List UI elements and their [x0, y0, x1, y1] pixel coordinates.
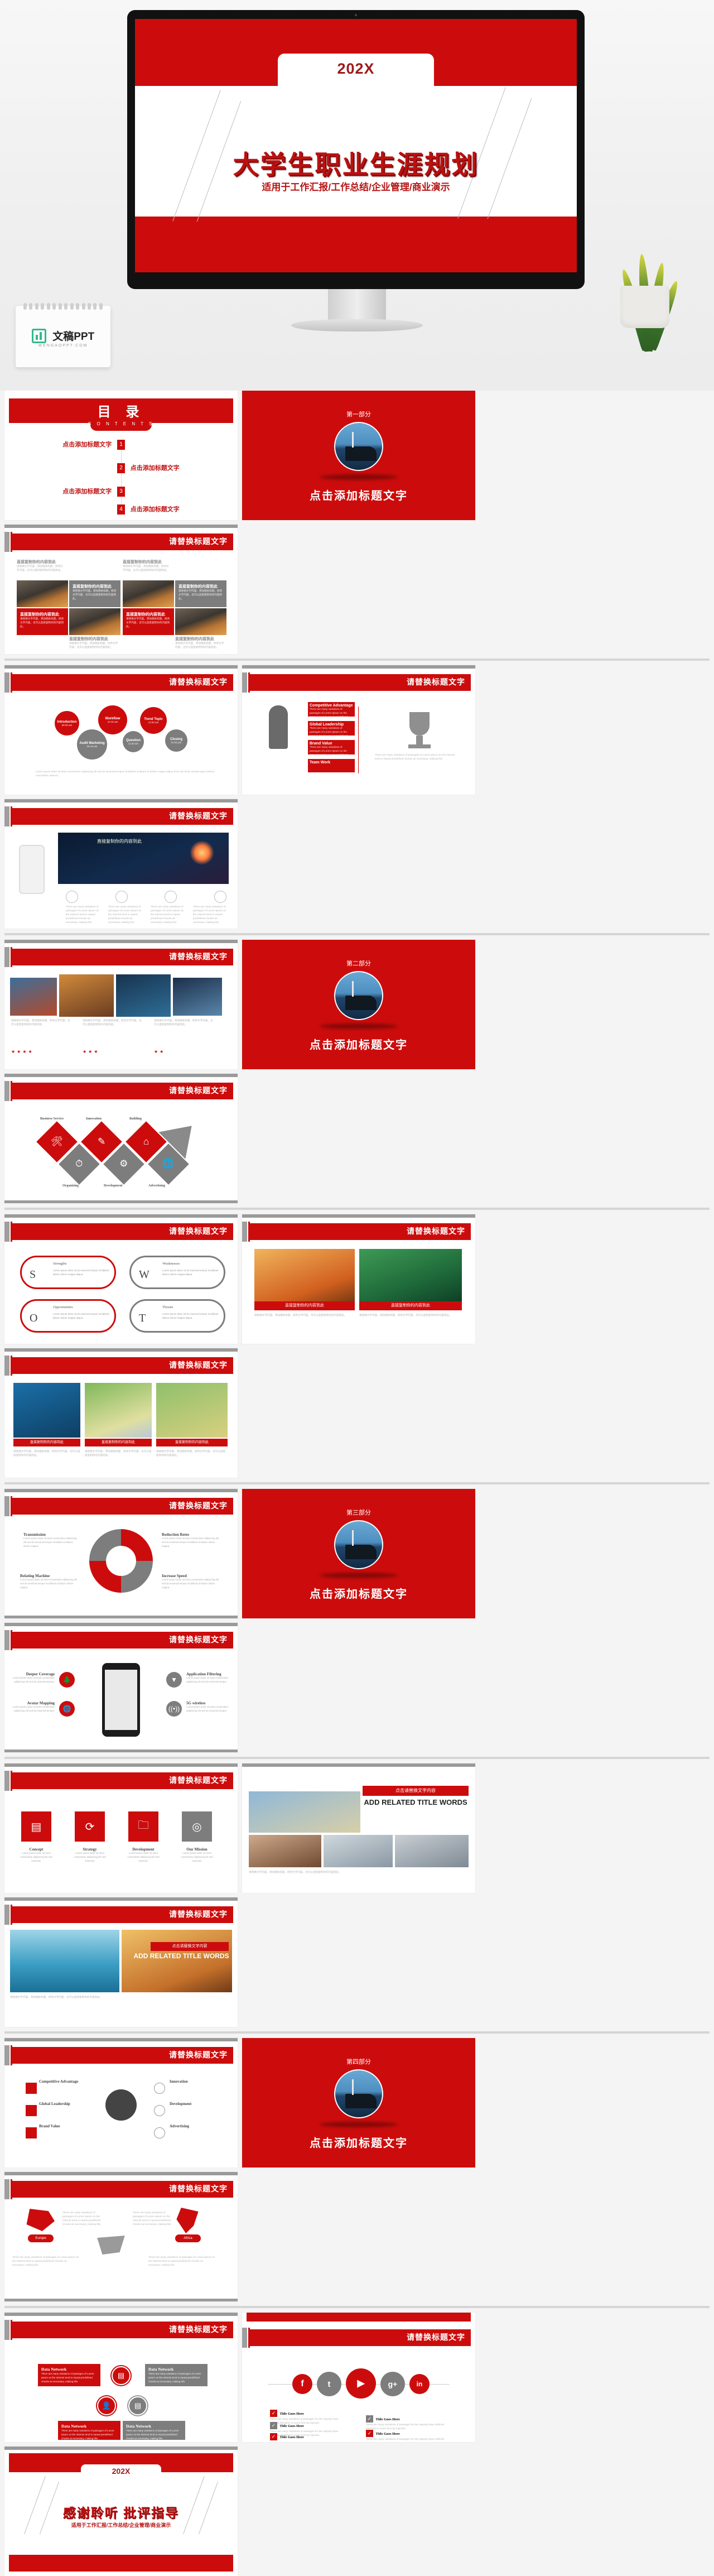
slide-flowchart[interactable]: 请替换标题文字 Competitive Advantage There are …: [242, 665, 475, 795]
gallery-photo[interactable]: [10, 978, 57, 1016]
caption-body: 请替换文字内容，添加相关标题，修改文字内容，也可以直接复制你的内容到此。: [123, 565, 171, 573]
header-title: 请替换标题文字: [169, 2049, 228, 2060]
header-title: 请替换标题文字: [169, 1225, 228, 1237]
europe-label: Europe: [28, 2234, 54, 2242]
slide-divider-2[interactable]: 第二部分 点击添加标题文字: [242, 940, 475, 1069]
trophy-icon: [409, 712, 430, 736]
slide-header: 请替换标题文字: [250, 2329, 471, 2346]
top-rule: [4, 2313, 238, 2316]
photo-left[interactable]: [254, 1249, 355, 1301]
top-rule: [4, 1489, 238, 1492]
slide-header: 请替换标题文字: [12, 1223, 233, 1240]
header-title: 请替换标题文字: [407, 1225, 465, 1237]
bubble-node[interactable]: Closing01:00 pm: [165, 729, 187, 752]
mobile-item-right-2: 5G wireless Lorem ipsum dolor sit amet c…: [186, 1701, 232, 1713]
slide-city-gallery[interactable]: 请替换标题文字 请替换文字内容，添加相关标题，修改文字内容，也可以直接复制你的内…: [4, 940, 238, 1069]
top-rule: [4, 1348, 238, 1352]
top-rule: [242, 1214, 475, 1218]
bubble-node[interactable]: Trend Topic12:00 am: [140, 707, 167, 734]
header-title: 请替换标题文字: [169, 676, 228, 688]
contents-label[interactable]: 点击添加标题文字: [62, 440, 112, 449]
slide-mobile-features[interactable]: 请替换标题文字 Deeper Coverage Lorem ipsum dolo…: [4, 1623, 238, 1752]
divider-part-label: 第二部分: [242, 959, 475, 968]
slide-header: 请替换标题文字: [12, 2181, 233, 2198]
swot-body: Lorem ipsum dolor sit do eiusmod tempor …: [162, 1312, 219, 1320]
africa-label: Africa: [175, 2234, 201, 2242]
related-body: 请替换文字内容，添加相关标题，修改文字内容，也可以直接复制你的内容到此。: [249, 1871, 469, 1875]
slide-header: 请替换标题文字: [12, 534, 233, 550]
divider-shadow: [320, 1023, 398, 1029]
swot-title: Weaknesses: [162, 1262, 180, 1266]
photo-right[interactable]: [359, 1249, 462, 1301]
linkedin-icon[interactable]: in: [409, 2374, 430, 2394]
africa-map-icon: [172, 2208, 203, 2233]
cover-year: 202X: [135, 60, 577, 78]
photo-caption: 直接复制你的内容到此: [97, 838, 142, 844]
bubble-node[interactable]: Question11:30 am: [123, 731, 144, 752]
photo-caption: 直接复制你的内容到此: [85, 1439, 152, 1446]
row-separator: [4, 659, 710, 661]
phone-mockup: [102, 1663, 140, 1737]
map-note: There are many variations of passages of…: [133, 2211, 174, 2227]
slide-header: 请替换标题文字: [12, 1083, 233, 1099]
ending-title: 感谢聆听 批评指导: [4, 2502, 238, 2521]
slide-data-network[interactable]: 请替换标题文字 Data Network There are many vari…: [4, 2313, 238, 2442]
check-icon: ✓: [270, 2433, 277, 2440]
related-en-title: ADD RELATED TITLE WORDS: [363, 1798, 469, 1806]
ship-mast: [352, 1530, 354, 1546]
slide-header: 请替换标题文字: [12, 1632, 233, 1649]
mosaic-caption: 直接复制你的内容到此 请替换文字内容，添加相关标题，修改文字内容，也可以直接复制…: [69, 636, 118, 650]
flow-node[interactable]: Global Leadership There are many variati…: [308, 721, 355, 736]
persona-label: Global Leadership: [39, 2102, 70, 2106]
divider-shadow: [320, 2122, 398, 2127]
server-icon[interactable]: ▤: [112, 2366, 131, 2385]
america-map-icon: [94, 2233, 128, 2256]
header-title: 请替换标题文字: [169, 1775, 228, 1786]
bottom-rule: [4, 1200, 238, 1203]
mosaic-text-tile: 直接复制你的内容到此 请替换文字内容，添加相关标题，修改文字内容，也可以直接复制…: [17, 608, 68, 635]
slide-arrow-process[interactable]: 请替换标题文字 Business Service Innovation Buil…: [4, 1074, 238, 1203]
swot-body: Lorem ipsum dolor sit do eiusmod tempor …: [53, 1268, 110, 1276]
header-title: 请替换标题文字: [169, 1634, 228, 1645]
row-separator: [4, 1208, 710, 1210]
header-title: 请替换标题文字: [169, 810, 228, 821]
process-label: Building: [129, 1117, 142, 1121]
gear-graphic-icon: [89, 1529, 153, 1593]
flow-connector: [358, 707, 359, 773]
ending-year: 202X: [4, 2467, 238, 2476]
swot-card-w[interactable]: W Weaknesses Lorem ipsum dolor sit do ei…: [129, 1256, 225, 1289]
slide-header: 请替换标题文字: [12, 949, 233, 965]
divider-part-label: 第三部分: [242, 1508, 475, 1517]
photo-tile[interactable]: [13, 1383, 80, 1438]
slide-header: 请替换标题文字: [12, 2322, 233, 2338]
header-title: 请替换标题文字: [169, 2183, 228, 2194]
camera-dot: [355, 14, 357, 16]
avatar: [105, 2089, 137, 2121]
icon-card-caption: Concept Lorem ipsum dolor sit amet conse…: [17, 1847, 56, 1863]
swot-letter: O: [30, 1312, 37, 1325]
process-label: Organizing: [62, 1184, 79, 1188]
slide-divider-4[interactable]: 第四部分 点击添加标题文字: [242, 2038, 475, 2168]
mosaic-text-tile: 直接复制你的内容到此 请替换文字内容，添加相关标题，修改文字内容，也可以直接复制…: [123, 608, 174, 635]
contents-number: 2: [117, 463, 125, 473]
mosaic-text-tile: 直接复制你的内容到此 请替换文字内容，添加相关标题，修改文字内容，也可以直接复制…: [175, 580, 226, 607]
folder-icon[interactable]: 🗀: [128, 1811, 158, 1842]
contents-label[interactable]: 点击添加标题文字: [131, 504, 180, 513]
contents-number: 1: [117, 440, 125, 450]
mosaic-caption: 直接复制你的内容到此 请替换文字内容，添加相关标题，修改文字内容，也可以直接复制…: [175, 636, 224, 650]
tree-icon[interactable]: 🌲: [59, 1672, 75, 1688]
slide-night-photo[interactable]: 请替换标题文字 直接复制你的内容到此 There are many variat…: [4, 799, 238, 929]
divider-title: 点击添加标题文字: [242, 2134, 475, 2150]
phone-mockup: [19, 845, 45, 894]
slide-thumbnail-grid: 目 录 C O N T E N T S 1 点击添加标题文字 2 点击添加标题文…: [0, 391, 714, 2576]
googleplus-icon[interactable]: g+: [380, 2372, 405, 2396]
photo-body: 请替换文字内容，添加相关标题，修改文字内容，也可以直接复制你的内容到此。: [156, 1450, 228, 1458]
contents-label[interactable]: 点击添加标题文字: [62, 487, 112, 496]
slide-divider-3[interactable]: 第三部分 点击添加标题文字: [242, 1489, 475, 1618]
data-network-box[interactable]: Data Network There are many variations o…: [38, 2364, 100, 2386]
slide-header: 请替换标题文字: [12, 2047, 233, 2064]
hands-photo[interactable]: [249, 1791, 360, 1833]
top-rule: [4, 2447, 238, 2450]
mosaic-caption: 直接复制你的内容到此 请替换文字内容，添加相关标题，修改文字内容，也可以直接复制…: [123, 559, 171, 573]
users-icon[interactable]: [214, 891, 226, 903]
slide-header: 请替换标题文字: [250, 1223, 471, 1240]
flow-caption: There are many variations of passages of…: [375, 753, 459, 761]
slide-header: 请替换标题文字: [12, 1498, 233, 1515]
divider-image: [334, 1520, 383, 1569]
slide-beach-photos[interactable]: 请替换标题文字 点击请替换文字内容 ADD RELATED TITLE WORD…: [4, 1897, 238, 2027]
data-network-box[interactable]: Data Network There are many variations o…: [123, 2421, 185, 2440]
top-rule: [4, 525, 238, 528]
mosaic-caption: 直接复制你的内容到此 请替换文字内容，添加相关标题，修改文字内容，也可以直接复制…: [17, 559, 65, 573]
ship-mast: [352, 2079, 354, 2095]
divider-title: 点击添加标题文字: [242, 487, 475, 503]
swot-title: Opportunities: [53, 1305, 73, 1309]
contents-number: 4: [117, 504, 125, 515]
row-separator: [4, 2031, 710, 2034]
slide-two-photos[interactable]: 请替换标题文字 直接复制你的内容到此 直接复制你的内容到此 请替换文字内容，添加…: [242, 1214, 475, 1344]
mosaic-image: [123, 580, 174, 607]
divider-shadow: [320, 474, 398, 480]
target-icon[interactable]: ◎: [182, 1811, 212, 1842]
persona-label: Innovation: [170, 2079, 188, 2084]
logo-text: 文稿PPT: [52, 328, 94, 343]
chart-icon[interactable]: [115, 891, 128, 903]
photo-tile[interactable]: [156, 1383, 228, 1438]
mosaic-image: [69, 608, 120, 635]
slide-social[interactable]: 请替换标题文字 f t ▶ g+ in ✓ Title Goes Here Th…: [242, 2313, 475, 2442]
check-icon: ✓: [366, 2430, 373, 2437]
map-note: There are many variations of passages of…: [148, 2256, 215, 2267]
swot-title: Threats: [162, 1305, 173, 1309]
icon-caption-row: There are many variations of passages of…: [66, 905, 226, 924]
slide-contents[interactable]: 目 录 C O N T E N T S 1 点击添加标题文字 2 点击添加标题文…: [4, 391, 238, 520]
mosaic-image: [175, 608, 226, 635]
swot-card-s[interactable]: S Strengths Lorem ipsum dolor sit do eiu…: [20, 1256, 116, 1289]
swot-body: Lorem ipsum dolor sit do eiusmod tempor …: [53, 1312, 110, 1320]
user-icon[interactable]: 👤: [97, 2396, 116, 2415]
slide-related-words[interactable]: 点击请替换文字内容 ADD RELATED TITLE WORDS 请替换文字内…: [242, 1763, 475, 1893]
swot-card-o[interactable]: O Opportunities Lorem ipsum dolor sit do…: [20, 1299, 116, 1333]
beach-body: 请替换文字内容，添加相关标题，修改文字内容，也可以直接复制你的内容到此。: [10, 1996, 232, 2000]
monitor-base: [291, 319, 423, 331]
social-list-item: ✓ Title Goes Here There are many variati…: [366, 2428, 455, 2442]
minus-icon[interactable]: [26, 2105, 37, 2116]
notebook-rings: [23, 303, 103, 310]
row-separator: [4, 1757, 710, 1759]
brand-logo: 文稿PPT WENGAOPPT.COM: [16, 328, 110, 348]
wifi-icon[interactable]: ((•)): [166, 1701, 182, 1717]
slide-header: 请替换标题文字: [12, 1906, 233, 1923]
rating-stars: ★★★★: [11, 1049, 34, 1054]
top-rule: [242, 1763, 475, 1767]
rating-stars: ★★★: [83, 1049, 100, 1054]
header-title: 请替换标题文字: [169, 1500, 228, 1511]
gallery-photo[interactable]: [116, 974, 171, 1017]
divider-image: [334, 971, 383, 1020]
photo-left-caption: 直接复制你的内容到此: [254, 1301, 355, 1310]
beach-en-title: ADD RELATED TITLE WORDS: [133, 1952, 230, 1960]
header-title: 请替换标题文字: [407, 2332, 465, 2343]
cover-subtitle: 适用于工作汇报/工作总结/企业管理/商业演示: [135, 179, 577, 193]
check-icon: ✓: [366, 2415, 373, 2423]
swot-card-t[interactable]: T Threats Lorem ipsum dolor sit do eiusm…: [129, 1299, 225, 1333]
slide-header: 请替换标题文字: [250, 674, 471, 691]
bubble-caption: Lorem ipsum dolor sit amet consectetur a…: [36, 770, 215, 778]
youtube-icon[interactable]: ▶: [346, 2368, 376, 2399]
photo-right-caption: 直接复制你的内容到此: [359, 1301, 462, 1310]
swot-title: Strengths: [53, 1262, 67, 1266]
divider-image: [334, 422, 383, 471]
ending-bottom-band: [9, 2555, 233, 2572]
ship-icon: [345, 446, 377, 461]
slide-swot[interactable]: 请替换标题文字 S Strengths Lorem ipsum dolor si…: [4, 1214, 238, 1344]
process-label: Business Service: [40, 1117, 64, 1121]
contents-subtitle: C O N T E N T S: [4, 421, 238, 426]
social-list-item: ✓ Title Goes Here: [270, 2431, 342, 2441]
gallery-photo[interactable]: [173, 978, 222, 1016]
divider-title: 点击添加标题文字: [242, 1585, 475, 1601]
top-rule: [4, 1763, 238, 1767]
icon-row: [66, 891, 226, 903]
top-rule: [4, 665, 238, 669]
mobile-item-right-1: Application Filtering Lorem ipsum dolor …: [186, 1672, 232, 1684]
slide-three-photos[interactable]: 请替换标题文字 直接复制你的内容到此 直接复制你的内容到此 直接复制你的内容到此…: [4, 1348, 238, 1478]
divider-title: 点击添加标题文字: [242, 1036, 475, 1052]
cover-title: 大学生职业生涯规划: [135, 145, 577, 181]
facebook-icon[interactable]: f: [292, 2374, 312, 2394]
caption-title: 直接复制你的内容到此: [17, 559, 65, 565]
filter-icon[interactable]: ▼: [166, 1672, 182, 1688]
photo-body: 请替换文字内容，添加相关标题，修改文字内容，也可以直接复制你的内容到此。: [13, 1450, 80, 1458]
swot-body: Lorem ipsum dolor sit do eiusmod tempor …: [162, 1268, 219, 1276]
social-top-band: [247, 2313, 471, 2322]
header-title: 请替换标题文字: [169, 1909, 228, 1920]
data-network-box[interactable]: Data Network There are many variations o…: [145, 2364, 208, 2386]
data-network-box[interactable]: Data Network There are many variations o…: [58, 2421, 120, 2440]
rating-stars: ★★: [154, 1049, 165, 1054]
gallery-caption: 请替换文字内容，添加相关标题，修改文字内容，也可以直接复制你的内容到此。: [11, 1019, 73, 1027]
slide-bubble-timeline[interactable]: 请替换标题文字 Introduction08:30 am Audit Marke…: [4, 665, 238, 795]
swot-letter: S: [30, 1268, 36, 1281]
photo-tile[interactable]: [395, 1835, 469, 1867]
mobile-item-left-2: Avatar Mapping Lorem ipsum dolor sit ame…: [12, 1701, 55, 1713]
sunset-photo[interactable]: [122, 1930, 232, 1992]
header-title: 请替换标题文字: [169, 1085, 228, 1096]
gear-item-tr: Reduction Rotes Lorem ipsum dolor sit am…: [162, 1532, 223, 1549]
slide-ending[interactable]: 202X 感谢聆听 批评指导 适用于工作汇报/工作总结/企业管理/商业演示: [4, 2447, 238, 2576]
swot-letter: T: [139, 1312, 146, 1325]
top-rule: [4, 2038, 238, 2041]
bubble-node[interactable]: Audit Marketing09:15 am: [77, 729, 107, 760]
calendar-icon[interactable]: ▤: [21, 1811, 51, 1842]
divider-image: [334, 2069, 383, 2118]
check-icon: ✓: [270, 2422, 277, 2429]
flow-node[interactable]: Competitive Advantage There are many var…: [308, 702, 355, 717]
database-icon[interactable]: ▤: [128, 2396, 147, 2415]
photo-tile[interactable]: [85, 1383, 152, 1438]
flow-node[interactable]: Brand Value There are many variations of…: [308, 740, 355, 754]
share-icon[interactable]: [154, 2105, 165, 2116]
persona-label: Brand Value: [39, 2124, 60, 2128]
top-rule: [4, 2172, 238, 2175]
caption-title: 直接复制你的内容到此: [123, 559, 171, 565]
row-separator: [4, 933, 710, 935]
firework-icon: [190, 840, 214, 865]
cover-bottom-band: [135, 217, 577, 272]
monitor-mockup: 202X 大学生职业生涯规划 适用于工作汇报/工作总结/企业管理/商业演示: [127, 10, 585, 289]
header-title: 请替换标题文字: [169, 2324, 228, 2335]
divider-part-label: 第四部分: [242, 2057, 475, 2066]
persona-label: Advertising: [170, 2124, 189, 2128]
refresh-icon[interactable]: ⟳: [75, 1811, 105, 1842]
monitor-stand: [328, 289, 386, 323]
slide-divider-1[interactable]: 第一部分 点击添加标题文字: [242, 391, 475, 520]
header-title: 请替换标题文字: [169, 536, 228, 547]
stat-icon[interactable]: [66, 891, 78, 903]
bottom-rule: [4, 1750, 238, 1752]
pen-icon[interactable]: [154, 2083, 165, 2094]
header-title: 请替换标题文字: [169, 951, 228, 962]
bubble-node[interactable]: Introduction08:30 am: [55, 711, 79, 736]
row-separator: [4, 2306, 710, 2308]
top-rule: [4, 799, 238, 802]
persona-label: Competitive Advantage: [39, 2079, 78, 2084]
gallery-caption: 请替换文字内容，添加相关标题，修改文字内容，也可以直接复制你的内容到此。: [83, 1019, 144, 1027]
mosaic-image: [17, 580, 68, 607]
top-rule: [4, 1214, 238, 1218]
slide-icon-cards[interactable]: 请替换标题文字 ▤ ⟳ 🗀 ◎ Concept Lorem ipsum dolo…: [4, 1763, 238, 1893]
twitter-icon[interactable]: t: [317, 2372, 341, 2396]
header-title: 请替换标题文字: [407, 676, 465, 688]
check-icon: ✓: [270, 2410, 277, 2417]
europe-map-icon: [23, 2209, 55, 2231]
slide-persona[interactable]: 请替换标题文字 Competitive Advantage Global Lea…: [4, 2038, 238, 2168]
logo-url: WENGAOPPT.COM: [16, 344, 110, 348]
person-icon: [269, 705, 288, 749]
photo-left-body: 请替换文字内容，添加相关标题，修改文字内容，也可以直接复制你的内容到此。: [254, 1314, 355, 1318]
notebook-logo: 文稿PPT WENGAOPPT.COM: [16, 306, 110, 367]
close-icon[interactable]: [26, 2083, 37, 2094]
gallery-caption: 请替换文字内容，添加相关标题，修改文字内容，也可以直接复制你的内容到此。: [154, 1019, 215, 1027]
ship-icon: [345, 1545, 377, 1559]
globe-icon[interactable]: 🌐: [59, 1701, 75, 1717]
photo-body: 请替换文字内容，添加相关标题，修改文字内容，也可以直接复制你的内容到此。: [85, 1450, 152, 1458]
bottom-rule: [4, 1616, 238, 1618]
slide-image-mosaic[interactable]: 请替换标题文字 直接复制你的内容到此 请替换文字内容，添加相关标题，修改文字内容…: [4, 525, 238, 654]
photo-tile[interactable]: [249, 1835, 321, 1867]
ship-mast: [352, 432, 354, 448]
contents-label[interactable]: 点击添加标题文字: [131, 463, 180, 472]
ship-icon: [345, 2094, 377, 2108]
cover-slide: 202X 大学生职业生涯规划 适用于工作汇报/工作总结/企业管理/商业演示: [135, 19, 577, 272]
close-icon[interactable]: [26, 2127, 37, 2138]
beach-cn-title: 点击请替换文字内容: [151, 1942, 229, 1951]
divider-shadow: [320, 1573, 398, 1578]
icon-card-caption: Our Mission Lorem ipsum dolor sit amet c…: [177, 1847, 216, 1863]
gallery-photo[interactable]: [59, 974, 114, 1017]
top-rule: [242, 665, 475, 669]
flow-node[interactable]: Team Work: [308, 759, 355, 772]
icon-card-caption: Strategy Lorem ipsum dolor sit amet cons…: [70, 1847, 109, 1863]
hero-preview: 202X 大学生职业生涯规划 适用于工作汇报/工作总结/企业管理/商业演示 文稿…: [0, 0, 714, 391]
persona-label: Development: [170, 2102, 191, 2106]
header-title: 请替换标题文字: [169, 1359, 228, 1371]
photo-right-body: 请替换文字内容，添加相关标题，修改文字内容，也可以直接复制你的内容到此。: [359, 1314, 462, 1318]
top-rule: [4, 1074, 238, 1077]
bottom-rule: [4, 2299, 238, 2301]
top-rule: [4, 1623, 238, 1626]
gear-icon[interactable]: [165, 891, 177, 903]
gear-item-tl: Transmission Lorem ipsum dolor sit amet …: [23, 1532, 77, 1549]
map-note: There are many variations of passages of…: [62, 2211, 104, 2227]
photo-tile[interactable]: [324, 1835, 393, 1867]
slide-gears[interactable]: 请替换标题文字 Transmission Lorem ipsum dolor s…: [4, 1489, 238, 1618]
phone-icon[interactable]: [154, 2127, 165, 2138]
ship-mast: [352, 981, 354, 997]
contents-number: 3: [117, 487, 125, 497]
slide-header: 请替换标题文字: [12, 808, 233, 825]
pool-photo[interactable]: [10, 1930, 119, 1992]
related-cn-title: 点击请替换文字内容: [363, 1786, 469, 1796]
photo-caption: 直接复制你的内容到此: [13, 1439, 80, 1446]
plant-pot: [620, 286, 669, 328]
photo-caption: 直接复制你的内容到此: [156, 1439, 228, 1446]
row-separator: [4, 1482, 710, 1484]
divider-part-label: 第一部分: [242, 410, 475, 419]
contents-title: 目 录: [4, 401, 238, 420]
mobile-item-left-1: Deeper Coverage Lorem ipsum dolor sit am…: [12, 1672, 55, 1684]
swot-letter: W: [139, 1268, 149, 1281]
night-photo: 直接复制你的内容到此: [58, 833, 229, 884]
slide-map-compare[interactable]: 请替换标题文字 Europe Africa There are many var…: [4, 2172, 238, 2301]
bubble-node[interactable]: Workflow10:15 am: [98, 705, 127, 734]
process-label: Development: [104, 1184, 123, 1188]
logo-mark-icon: [32, 329, 46, 343]
mosaic-text-tile: 直接复制你的内容到此 请替换文字内容，添加相关标题，修改文字内容，也可以直接复制…: [69, 580, 120, 607]
slide-header: 请替换标题文字: [12, 1772, 233, 1789]
top-rule: [4, 1897, 238, 1901]
map-note: There are many variations of passages of…: [12, 2256, 79, 2267]
gear-item-br: Increase Speed Lorem ipsum dolor sit ame…: [162, 1574, 223, 1590]
process-label: Advertising: [148, 1184, 165, 1188]
top-rule: [4, 940, 238, 943]
slide-header: 请替换标题文字: [12, 1357, 233, 1374]
